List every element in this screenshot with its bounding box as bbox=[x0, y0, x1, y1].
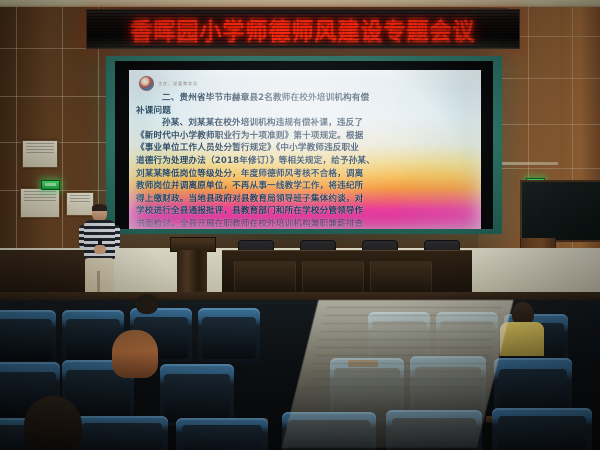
notice-board bbox=[20, 188, 60, 218]
seat bbox=[160, 364, 234, 426]
projection-screen-frame: 主任、党委教育局 二、贵州省毕节市赫章县2名教师在校外培训机构有偿补课问题孙某、… bbox=[106, 56, 502, 234]
slide-line: 得上缴财政。当地县政府对县教育局领导班子集体约谈，对 bbox=[136, 193, 474, 206]
led-banner-text: 香晖园小学师德师风建设专题会议 bbox=[130, 14, 475, 46]
speaker-hair bbox=[92, 204, 107, 211]
slide-line: 道德行为处理办法（2018年修订）》等相关规定，给予孙某、 bbox=[136, 155, 474, 168]
slide-text-body: 二、贵州省毕节市赫章县2名教师在校外培训机构有偿补课问题孙某、刘某某在校外培训机… bbox=[136, 92, 474, 229]
slide-logo: 主任、党委教育局 bbox=[139, 76, 198, 91]
seat bbox=[176, 418, 268, 450]
audience-person-head bbox=[136, 294, 158, 314]
seat bbox=[386, 410, 482, 450]
wall-seam bbox=[16, 7, 17, 252]
speaker-hands bbox=[94, 245, 106, 254]
emblem-icon bbox=[139, 76, 154, 91]
slide-line: 二、贵州省毕节市赫章县2名教师在校外培训机构有偿 bbox=[136, 92, 474, 105]
notice-board bbox=[22, 140, 58, 168]
wall-seam bbox=[62, 7, 63, 252]
seat bbox=[0, 310, 56, 364]
wall-seam bbox=[0, 96, 118, 97]
slide-line: 教师岗位并调离原单位，不再从事一线教学工作，将违纪所 bbox=[136, 180, 474, 193]
audience-area bbox=[0, 300, 600, 450]
slide-line: 《事业单位工作人员处分暂行规定》《中小学教师违反职业 bbox=[136, 142, 474, 155]
speaker-person bbox=[78, 205, 122, 301]
slide-line: 学校进行全县通报批评，县教育部门和所在学校分管领导作 bbox=[136, 205, 474, 218]
wall-display-panel bbox=[520, 180, 600, 242]
podium bbox=[170, 237, 214, 299]
exit-sign-left bbox=[41, 180, 60, 190]
seat bbox=[282, 412, 376, 450]
slide-line: 《新时代中小学教师职业行为十项准则》第十项规定。根据 bbox=[136, 130, 474, 143]
slide-line: 补课问题 bbox=[136, 105, 474, 118]
seat bbox=[492, 408, 592, 450]
wall-seam bbox=[0, 142, 118, 143]
seat bbox=[198, 308, 260, 362]
slide-line: 刘某某降低岗位等级处分，年度师德师风考核不合格，调离 bbox=[136, 168, 474, 181]
audience-person-head bbox=[24, 396, 82, 450]
podium-body bbox=[177, 250, 207, 292]
presentation-slide: 主任、党委教育局 二、贵州省毕节市赫章县2名教师在校外培训机构有偿补课问题孙某、… bbox=[129, 70, 481, 229]
seat-armrest bbox=[348, 360, 378, 367]
led-banner: 香晖园小学师德师风建设专题会议 bbox=[86, 9, 520, 49]
seat bbox=[76, 416, 168, 450]
slide-line: 书面检讨。全县开展在职教师在校外培训机构兼职兼薪排查 bbox=[136, 218, 474, 229]
slide-logo-label: 主任、党委教育局 bbox=[158, 81, 198, 87]
projection-screen-bezel: 主任、党委教育局 二、贵州省毕节市赫章县2名教师在校外培训机构有偿补课问题孙某、… bbox=[115, 61, 493, 229]
slide-line: 孙某、刘某某在校外培训机构违规有偿补课，违反了 bbox=[136, 117, 474, 130]
audience-person-body bbox=[500, 322, 544, 356]
audience-person-hair bbox=[112, 330, 158, 378]
auditorium-photo: 香晖园小学师德师风建设专题会议 主任、党委教育局 二、贵州省毕节市赫章县2名教师… bbox=[0, 0, 600, 450]
